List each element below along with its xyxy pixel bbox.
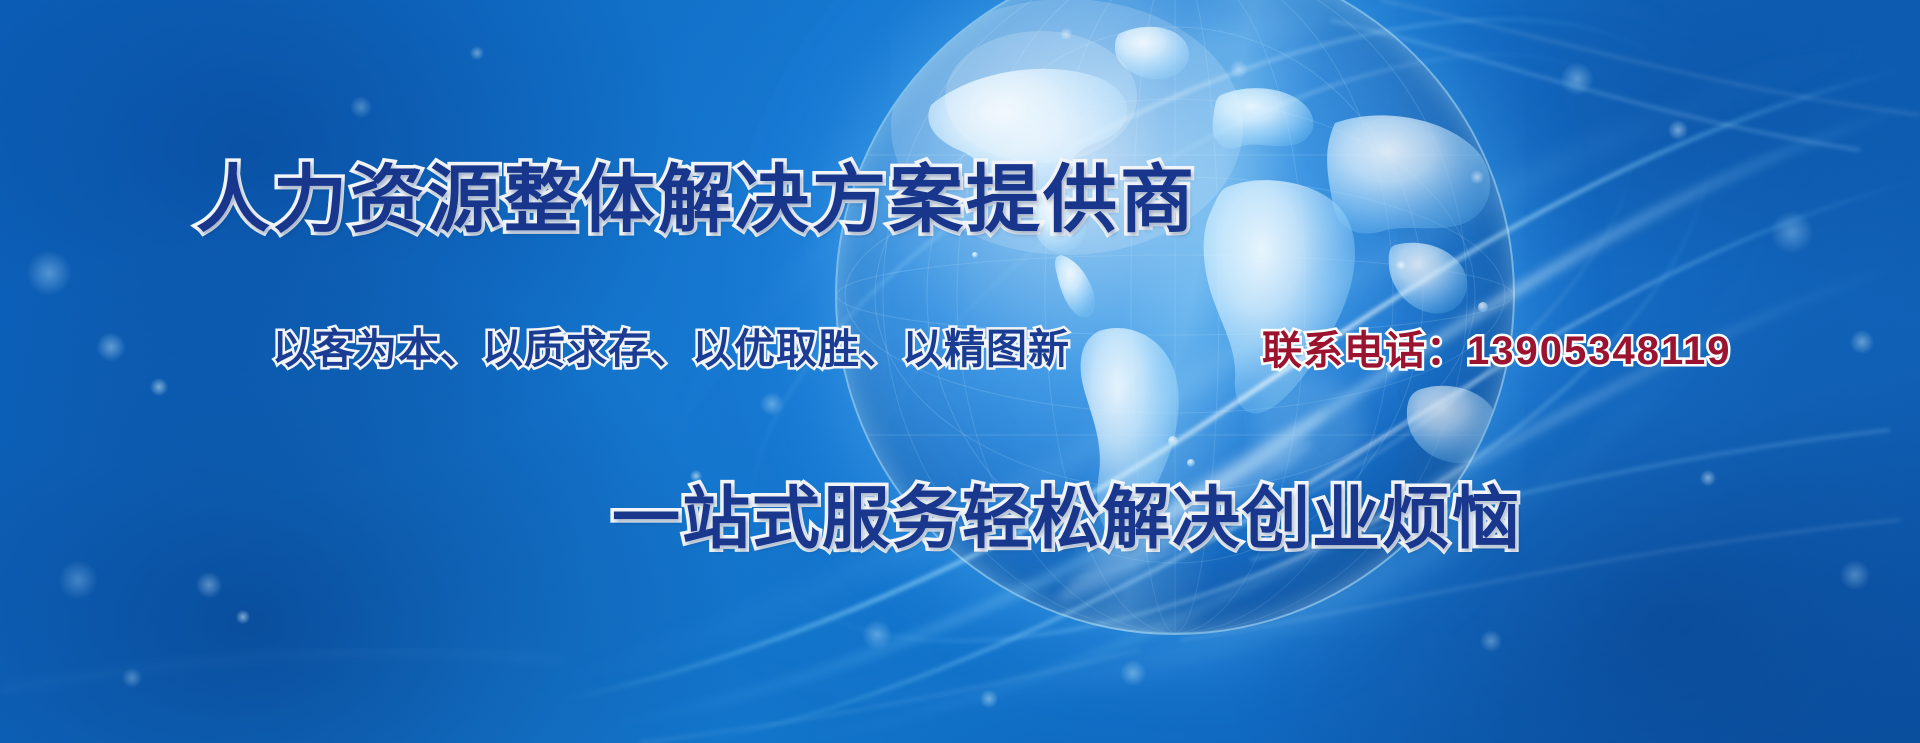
hero-banner: 人力资源整体解决方案提供商 以客为本、以质求存、以优取胜、以精图新 联系电话：1… bbox=[0, 0, 1920, 743]
banner-tagline: 一站式服务轻松解决创业烦恼 bbox=[612, 463, 1522, 562]
banner-text-content: 人力资源整体解决方案提供商 以客为本、以质求存、以优取胜、以精图新 联系电话：1… bbox=[0, 0, 1920, 743]
contact-phone-label: 联系电话： bbox=[1262, 329, 1467, 373]
banner-headline: 人力资源整体解决方案提供商 bbox=[196, 140, 1197, 247]
banner-subtitle-slogan: 以客为本、以质求存、以优取胜、以精图新 bbox=[272, 315, 1070, 375]
contact-phone[interactable]: 联系电话：13905348119 bbox=[1262, 318, 1732, 376]
contact-phone-number: 13905348119 bbox=[1467, 329, 1732, 373]
